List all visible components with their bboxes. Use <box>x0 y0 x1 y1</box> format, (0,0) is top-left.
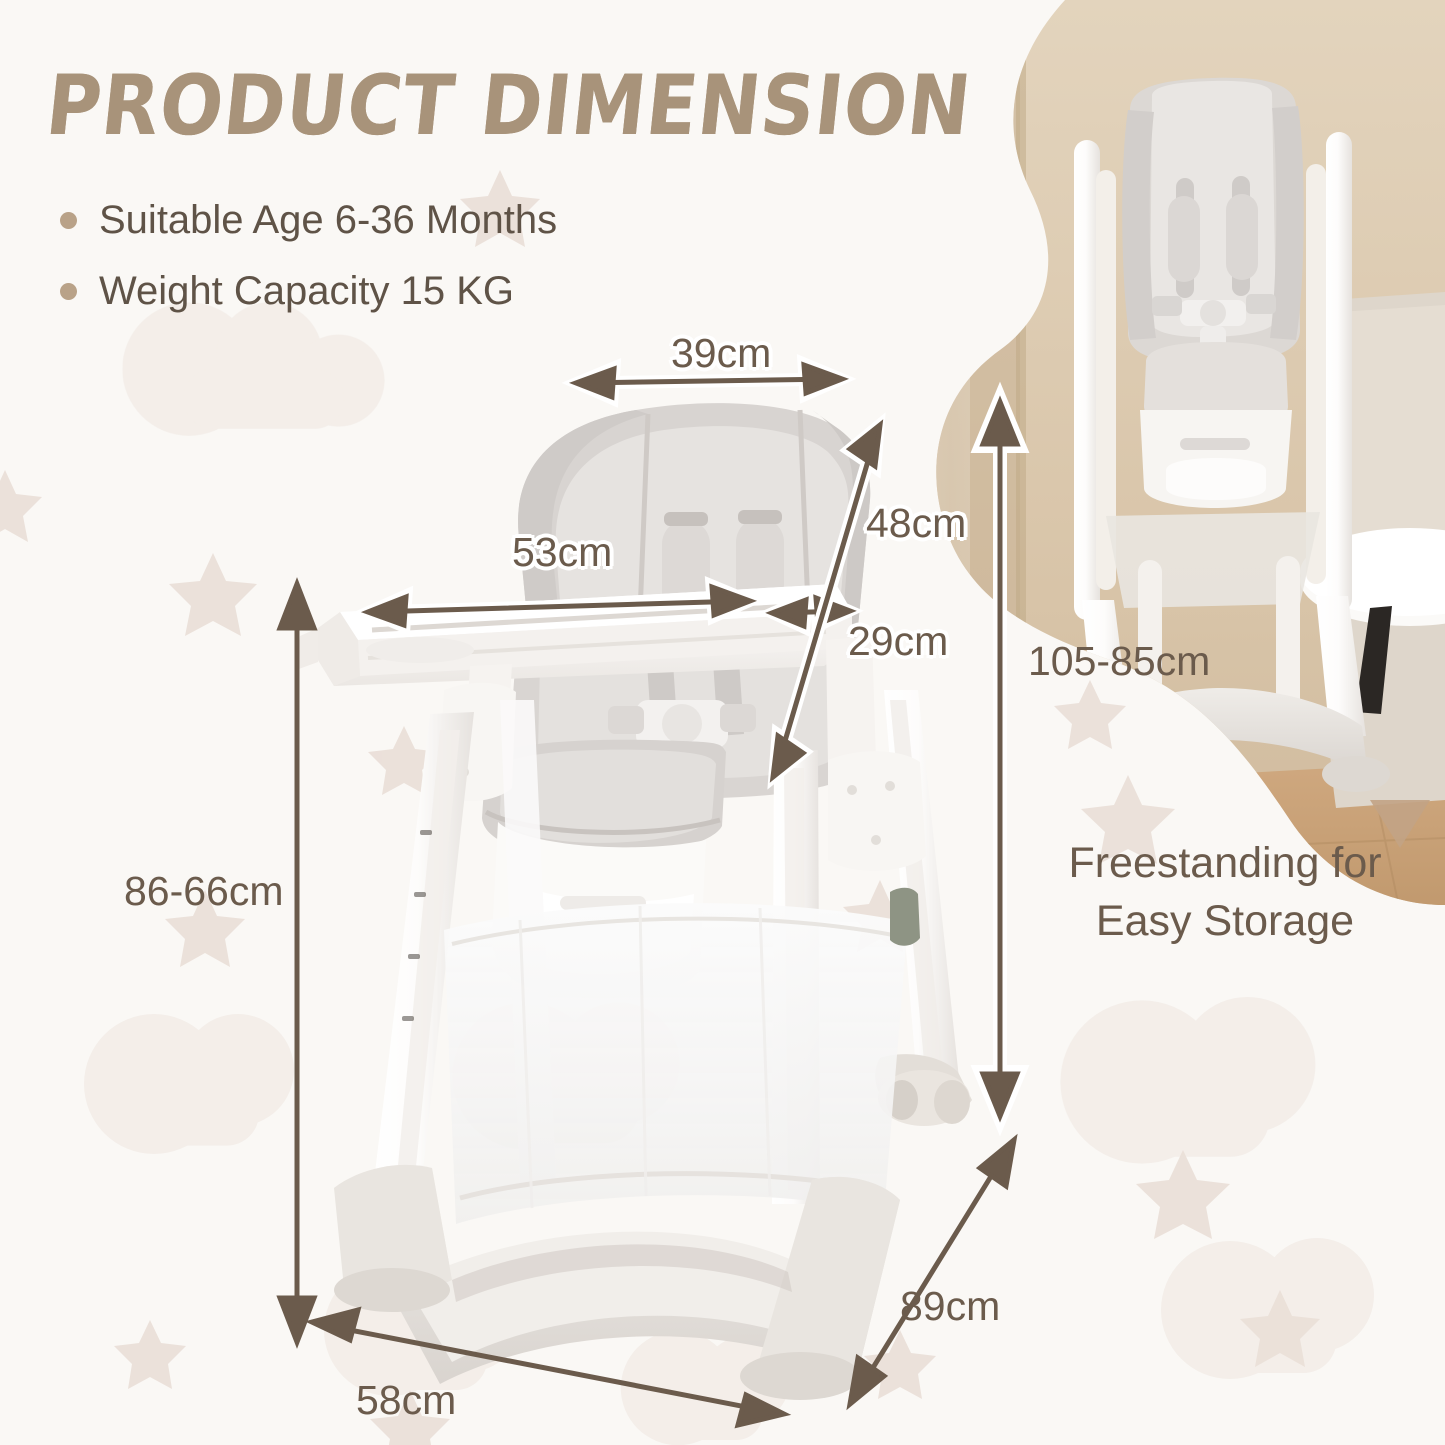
side-hinge-right <box>828 751 926 871</box>
main-product-highchair <box>296 403 972 1400</box>
side-hinge-left <box>438 683 516 801</box>
bullet-dot-icon <box>60 283 77 300</box>
star-decor-group <box>0 170 1320 1445</box>
dimension-label-tray-width: 53cm <box>512 529 612 576</box>
dimension-label-backrest-height: 48cm <box>866 500 966 547</box>
dimension-label-tray-depth: 29cm <box>848 618 948 665</box>
caption-line-2: Easy Storage <box>1030 892 1420 950</box>
bullet-label: Weight Capacity 15 KG <box>99 269 514 314</box>
freestanding-caption: Freestanding for Easy Storage <box>1030 834 1420 950</box>
harness-buckle <box>608 700 756 772</box>
storage-basket <box>444 903 908 1224</box>
dimension-label-seat-height: 105-85cm <box>1028 638 1210 685</box>
page-title: PRODUCT DIMENSION <box>42 58 976 154</box>
seat-pad <box>482 632 866 857</box>
feeding-tray <box>296 584 852 686</box>
rear-caster-wheel <box>875 1054 972 1126</box>
infographic-canvas: PRODUCT DIMENSION Suitable Age 6-36 Mont… <box>0 0 1445 1445</box>
list-item: Suitable Age 6-36 Months <box>60 198 557 243</box>
dimension-label-backrest-width: 39cm <box>671 330 771 377</box>
bullet-label: Suitable Age 6-36 Months <box>99 198 557 243</box>
list-item: Weight Capacity 15 KG <box>60 269 557 314</box>
release-latch <box>890 888 920 946</box>
dimension-label-back-height: 86-66cm <box>124 868 284 915</box>
dimension-label-base-depth: 89cm <box>900 1283 1000 1330</box>
footrest-shell <box>492 822 706 998</box>
caption-line-1: Freestanding for <box>1030 834 1420 892</box>
inset-room-photo <box>930 0 1445 960</box>
bullet-dot-icon <box>60 212 77 229</box>
dimension-label-base-width: 58cm <box>356 1377 456 1424</box>
feature-bullet-list: Suitable Age 6-36 Months Weight Capacity… <box>60 198 557 340</box>
chair-base <box>334 1165 900 1400</box>
